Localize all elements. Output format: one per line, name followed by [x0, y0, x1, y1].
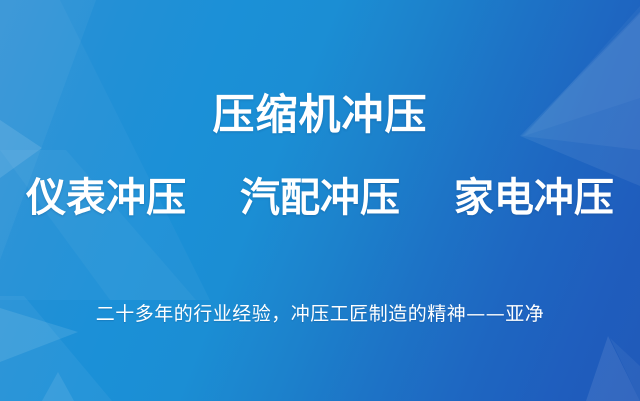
subheading-item-3: 家电冲压: [454, 175, 614, 221]
promotional-banner: 压缩机冲压 仪表冲压 汽配冲压 家电冲压 二十多年的行业经验，冲压工匠制造的精神…: [0, 0, 640, 401]
tagline-text: 二十多年的行业经验，冲压工匠制造的精神——亚净: [0, 303, 640, 326]
headline-text: 压缩机冲压: [0, 92, 640, 138]
banner-content: 压缩机冲压 仪表冲压 汽配冲压 家电冲压 二十多年的行业经验，冲压工匠制造的精神…: [0, 0, 640, 401]
subheading-item-1: 仪表冲压: [26, 175, 186, 221]
subheading-row: 仪表冲压 汽配冲压 家电冲压: [0, 176, 640, 220]
subheading-item-2: 汽配冲压: [240, 175, 400, 221]
